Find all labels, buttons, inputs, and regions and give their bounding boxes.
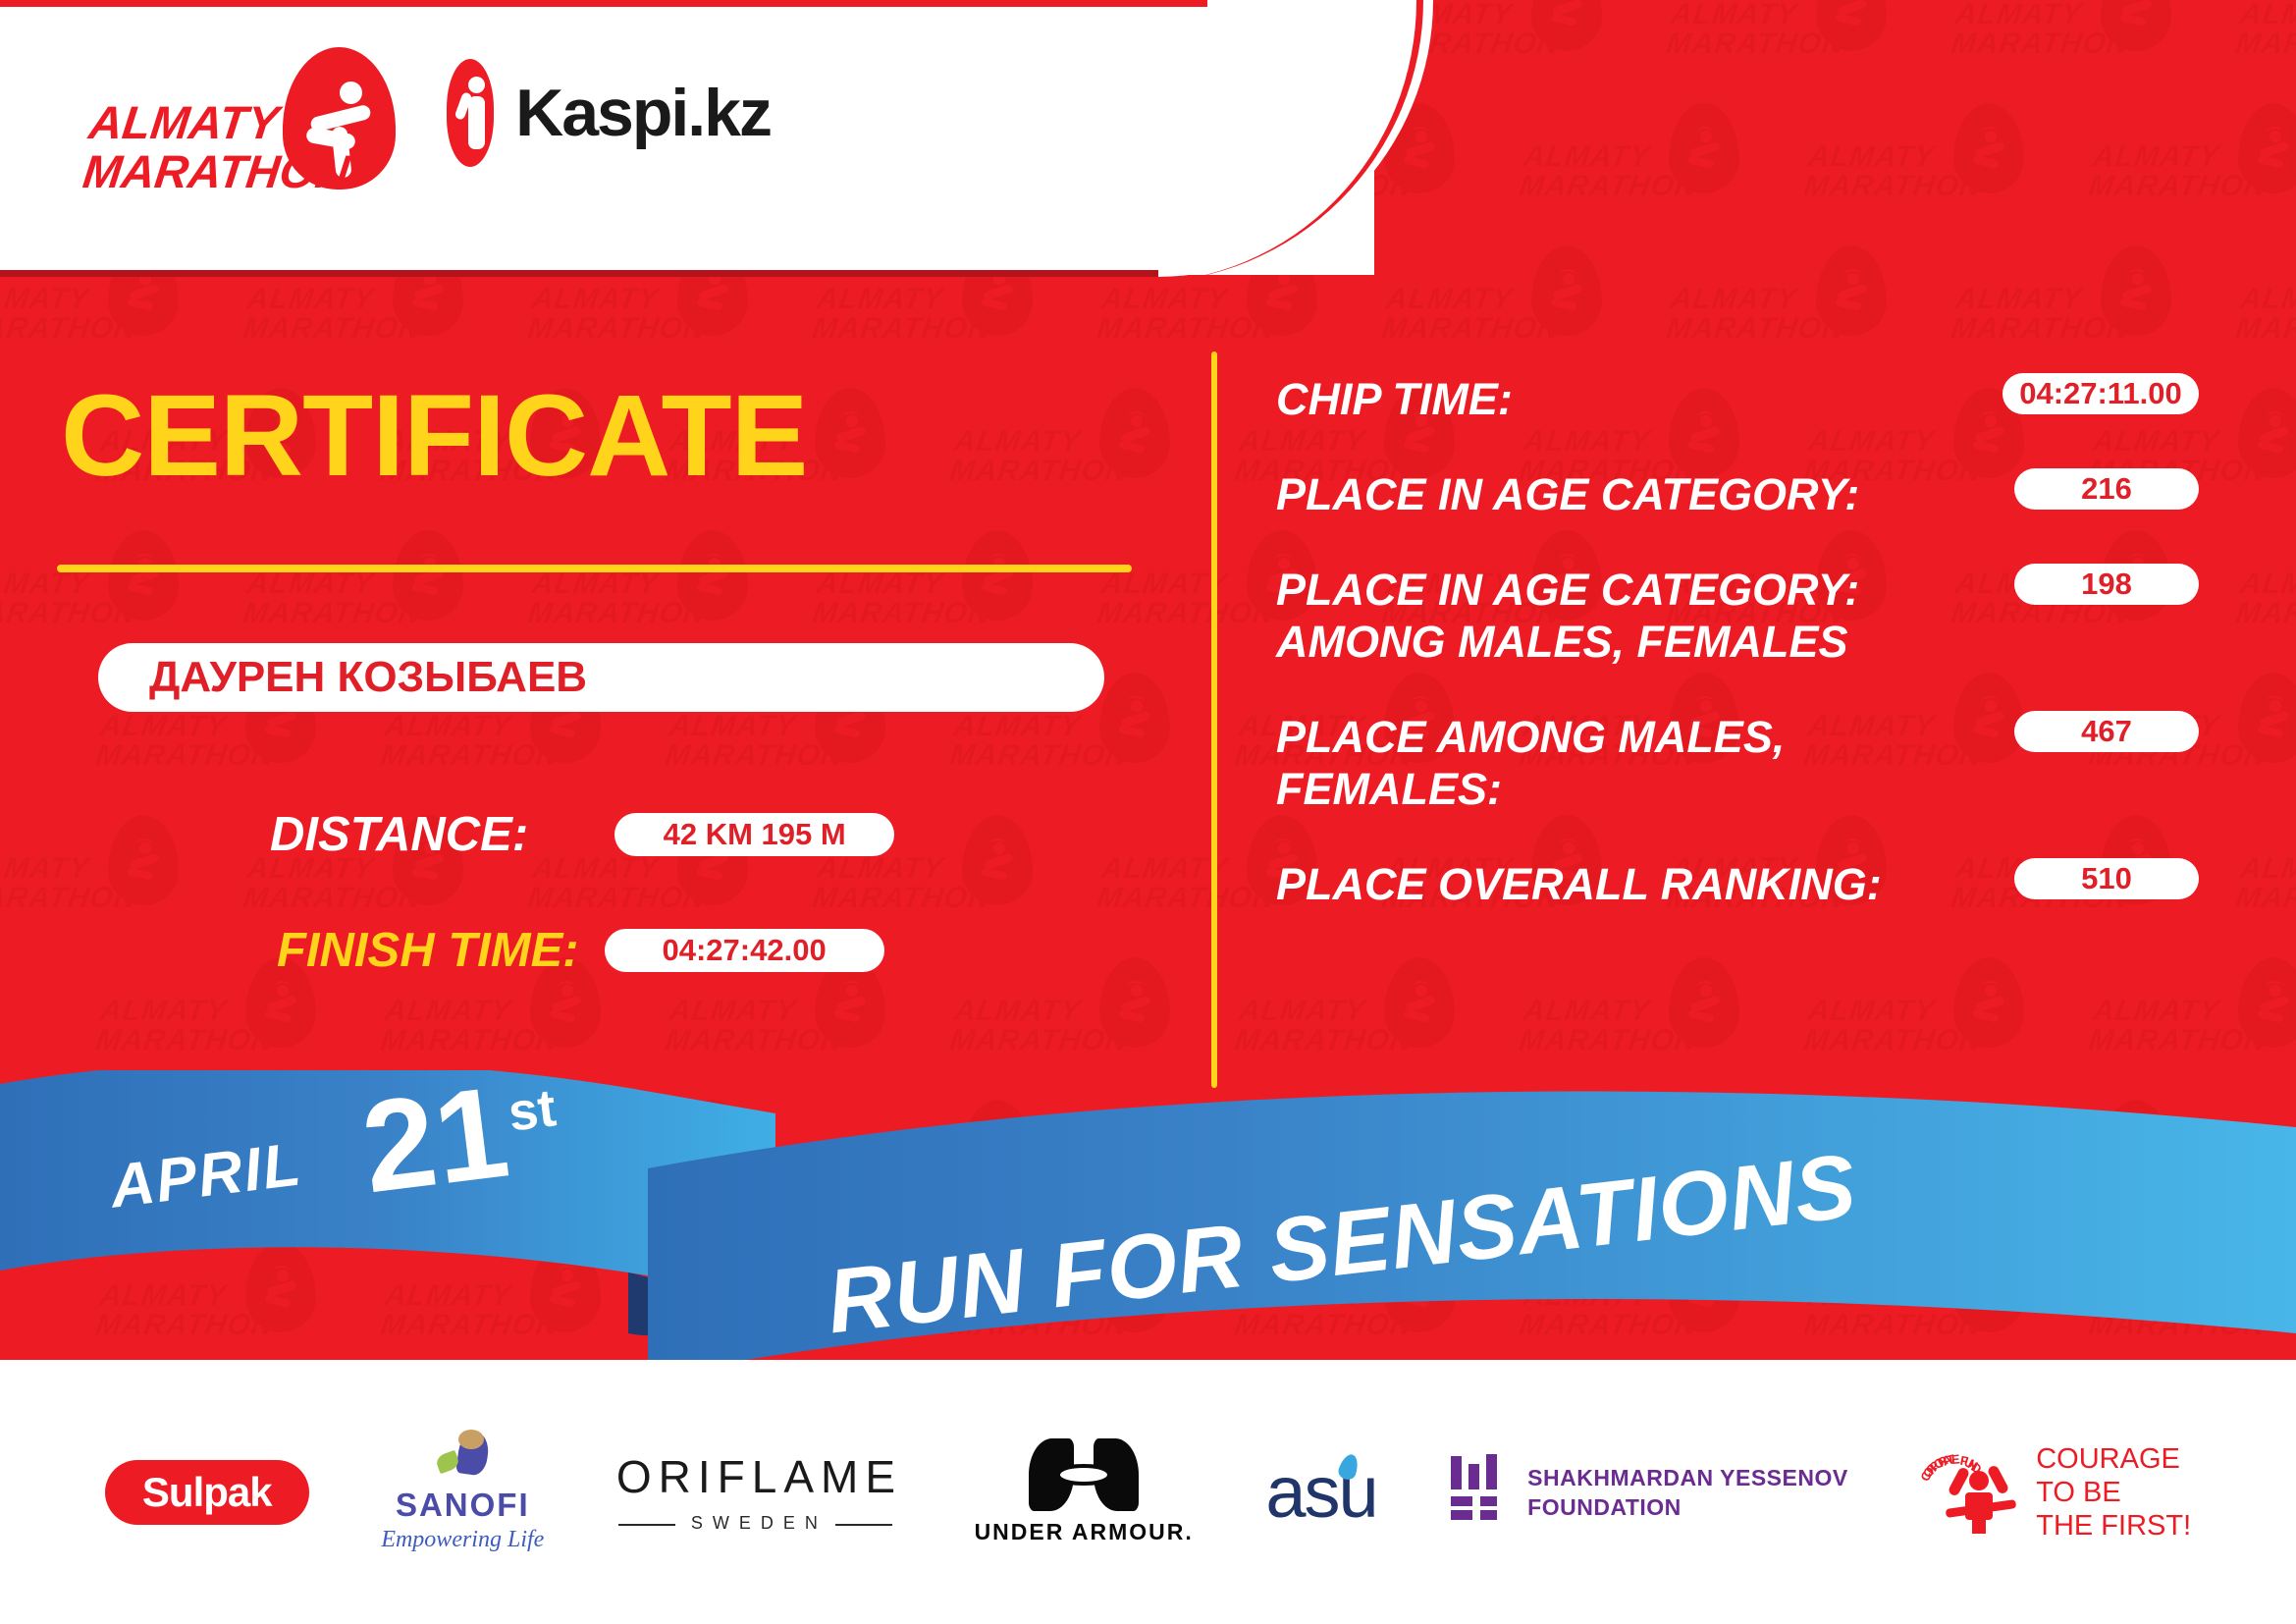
participant-name-value: ДАУРЕН КОЗЫБАЕВ bbox=[149, 653, 587, 702]
under-armour-icon bbox=[1029, 1438, 1139, 1511]
sulpak-logo-text: Sulpak bbox=[105, 1460, 309, 1525]
watermark-tile: ALMATYMARATHON bbox=[815, 1100, 1109, 1242]
chip-time-value: 04:27:11.00 bbox=[2002, 373, 2199, 414]
watermark-tile: ALMATYMARATHON bbox=[98, 1242, 393, 1360]
place-among-males-females-label: PLACE AMONG MALES, FEMALES: bbox=[1276, 711, 1785, 815]
oriflame-tagline: SWEDEN bbox=[691, 1513, 828, 1534]
place-among-males-females-line2: FEMALES: bbox=[1276, 763, 1785, 815]
watermark-tile: ALMATYMARATHON bbox=[2238, 0, 2296, 103]
courage-line2: TO BE bbox=[2036, 1476, 2191, 1509]
place-age-category-among-line2: AMONG MALES, FEMALES bbox=[1276, 616, 1859, 668]
kaspi-logo: Kaspi.kz bbox=[447, 54, 771, 172]
sponsor-under-armour: UNDER ARMOUR. bbox=[975, 1438, 1194, 1545]
sponsor-sulpak: Sulpak bbox=[105, 1460, 309, 1525]
sanofi-tagline: Empowering Life bbox=[381, 1527, 544, 1553]
sanofi-logo-text: SANOFI bbox=[396, 1487, 530, 1524]
sponsor-oriflame: ORIFLAME SWEDEN bbox=[616, 1450, 902, 1534]
shakhmardan-bars-icon bbox=[1449, 1454, 1508, 1531]
courage-figure-icon: CORPORATE FUND bbox=[1920, 1445, 2022, 1540]
watermark-tile: ALMATYMARATHON bbox=[1806, 103, 2101, 245]
page-title: CERTIFICATE bbox=[61, 378, 1141, 494]
almaty-logo-line2: MARATHON bbox=[80, 147, 312, 196]
sponsor-bar: Sulpak SANOFI Empowering Life ORIFLAME S… bbox=[0, 1360, 2296, 1624]
stats-panel: CHIP TIME: 04:27:11.00 PLACE IN AGE CATE… bbox=[1276, 373, 2199, 953]
header-bottom-rule bbox=[0, 270, 1158, 277]
finish-time-value: 04:27:42.00 bbox=[605, 929, 884, 972]
participant-name-field: ДАУРЕН КОЗЫБАЕВ bbox=[98, 643, 1104, 712]
finish-time-row: FINISH TIME: 04:27:42.00 bbox=[277, 923, 884, 978]
courage-line1: COURAGE bbox=[2036, 1442, 2191, 1476]
watermark-tile: ALMATYMARATHON bbox=[98, 957, 393, 1100]
watermark-tile: ALMATYMARATHON bbox=[2091, 957, 2296, 1100]
almaty-logo-line1: ALMATY bbox=[86, 98, 318, 147]
courage-logo: CORPORATE FUND COURAGE TO BE THE FIRST! bbox=[1920, 1442, 2191, 1543]
watermark-tile: ALMATYMARATHON bbox=[667, 957, 962, 1100]
under-armour-logo-text: UNDER ARMOUR. bbox=[975, 1519, 1194, 1545]
ribbon-ordinal: st bbox=[505, 1077, 559, 1143]
finish-time-label: FINISH TIME: bbox=[277, 923, 579, 978]
kaspi-family-icon bbox=[447, 59, 494, 167]
place-among-males-females-value: 467 bbox=[2014, 711, 2199, 752]
shakhmardan-logo: SHAKHMARDAN YESSENOV FOUNDATION bbox=[1449, 1454, 1848, 1531]
place-among-males-females-row: PLACE AMONG MALES, FEMALES: 467 bbox=[1276, 711, 2199, 815]
header-top-rule bbox=[0, 0, 1207, 7]
distance-row: DISTANCE: 42 KM 195 M bbox=[270, 807, 894, 862]
kaspi-logo-text: Kaspi.kz bbox=[515, 75, 771, 151]
watermark-tile: ALMATYMARATHON bbox=[1237, 957, 1531, 1100]
place-age-category-among-line1: PLACE IN AGE CATEGORY: bbox=[1276, 564, 1859, 616]
place-overall-ranking-value: 510 bbox=[2014, 858, 2199, 899]
watermark-tile: ALMATYMARATHON bbox=[1953, 0, 2248, 103]
almaty-logo-text: ALMATY MARATHON bbox=[80, 98, 318, 196]
shakhmardan-line1: SHAKHMARDAN YESSENOV bbox=[1527, 1463, 1848, 1492]
certificate-page: ALMATYMARATHONALMATYMARATHONALMATYMARATH… bbox=[0, 0, 2296, 1624]
watermark-tile: ALMATYMARATHON bbox=[1384, 245, 1679, 388]
watermark-tile: ALMATYMARATHON bbox=[530, 1100, 825, 1242]
sponsor-sanofi: SANOFI Empowering Life bbox=[381, 1432, 544, 1553]
watermark-tile: ALMATYMARATHON bbox=[2238, 1100, 2296, 1242]
watermark-tile: ALMATYMARATHON bbox=[1953, 1100, 2248, 1242]
column-divider bbox=[1211, 352, 1217, 1088]
oriflame-logo-text: ORIFLAME bbox=[616, 1450, 902, 1503]
distance-label: DISTANCE: bbox=[270, 807, 528, 862]
sponsor-courage-fund: CORPORATE FUND COURAGE TO BE THE FIRST! bbox=[1920, 1442, 2191, 1543]
watermark-tile: ALMATYMARATHON bbox=[1522, 957, 1816, 1100]
courage-line3: THE FIRST! bbox=[2036, 1509, 2191, 1543]
watermark-tile: ALMATYMARATHON bbox=[1953, 245, 2248, 388]
watermark-tile: ALMATYMARATHON bbox=[2238, 815, 2296, 957]
watermark-tile: ALMATYMARATHON bbox=[2091, 1242, 2296, 1360]
place-age-category-row: PLACE IN AGE CATEGORY: 216 bbox=[1276, 468, 2199, 520]
watermark-tile: ALMATYMARATHON bbox=[1669, 245, 1963, 388]
watermark-tile: ALMATYMARATHON bbox=[383, 1242, 677, 1360]
asu-logo: asu bbox=[1265, 1450, 1376, 1534]
place-age-category-among-value: 198 bbox=[2014, 564, 2199, 605]
place-age-category-value: 216 bbox=[2014, 468, 2199, 510]
place-age-category-among-label: PLACE IN AGE CATEGORY: AMONG MALES, FEMA… bbox=[1276, 564, 1859, 668]
place-among-males-females-line1: PLACE AMONG MALES, bbox=[1276, 711, 1785, 763]
watermark-tile: ALMATYMARATHON bbox=[952, 957, 1247, 1100]
watermark-tile: ALMATYMARATHON bbox=[1806, 1242, 2101, 1360]
asu-logo-text: asu bbox=[1265, 1450, 1376, 1534]
sanofi-bird-icon bbox=[431, 1432, 494, 1483]
chip-time-label: CHIP TIME: bbox=[1276, 373, 1513, 425]
watermark-tile: ALMATYMARATHON bbox=[2238, 530, 2296, 673]
watermark-tile: ALMATYMARATHON bbox=[0, 815, 255, 957]
place-age-category-label: PLACE IN AGE CATEGORY: bbox=[1276, 468, 1859, 520]
watermark-tile: ALMATYMARATHON bbox=[2238, 245, 2296, 388]
watermark-tile: ALMATYMARATHON bbox=[1522, 103, 1816, 245]
sponsor-shakhmardan: SHAKHMARDAN YESSENOV FOUNDATION bbox=[1449, 1454, 1848, 1531]
distance-value: 42 KM 195 M bbox=[614, 813, 894, 856]
sponsor-asu: asu bbox=[1265, 1450, 1376, 1534]
almaty-marathon-logo: ALMATY MARATHON bbox=[86, 47, 410, 194]
place-overall-ranking-label: PLACE OVERALL RANKING: bbox=[1276, 858, 1882, 910]
shakhmardan-line2: FOUNDATION bbox=[1527, 1492, 1848, 1522]
place-overall-ranking-row: PLACE OVERALL RANKING: 510 bbox=[1276, 858, 2199, 910]
watermark-tile: ALMATYMARATHON bbox=[2091, 103, 2296, 245]
chip-time-row: CHIP TIME: 04:27:11.00 bbox=[1276, 373, 2199, 425]
watermark-tile: ALMATYMARATHON bbox=[1806, 957, 2101, 1100]
courage-logo-text: COURAGE TO BE THE FIRST! bbox=[2036, 1442, 2191, 1543]
ribbon-day: 21 bbox=[356, 1067, 515, 1214]
shakhmardan-logo-text: SHAKHMARDAN YESSENOV FOUNDATION bbox=[1527, 1463, 1848, 1522]
watermark-tile: ALMATYMARATHON bbox=[1669, 0, 1963, 103]
title-underline bbox=[57, 565, 1132, 572]
place-age-category-among-row: PLACE IN AGE CATEGORY: AMONG MALES, FEMA… bbox=[1276, 564, 2199, 668]
